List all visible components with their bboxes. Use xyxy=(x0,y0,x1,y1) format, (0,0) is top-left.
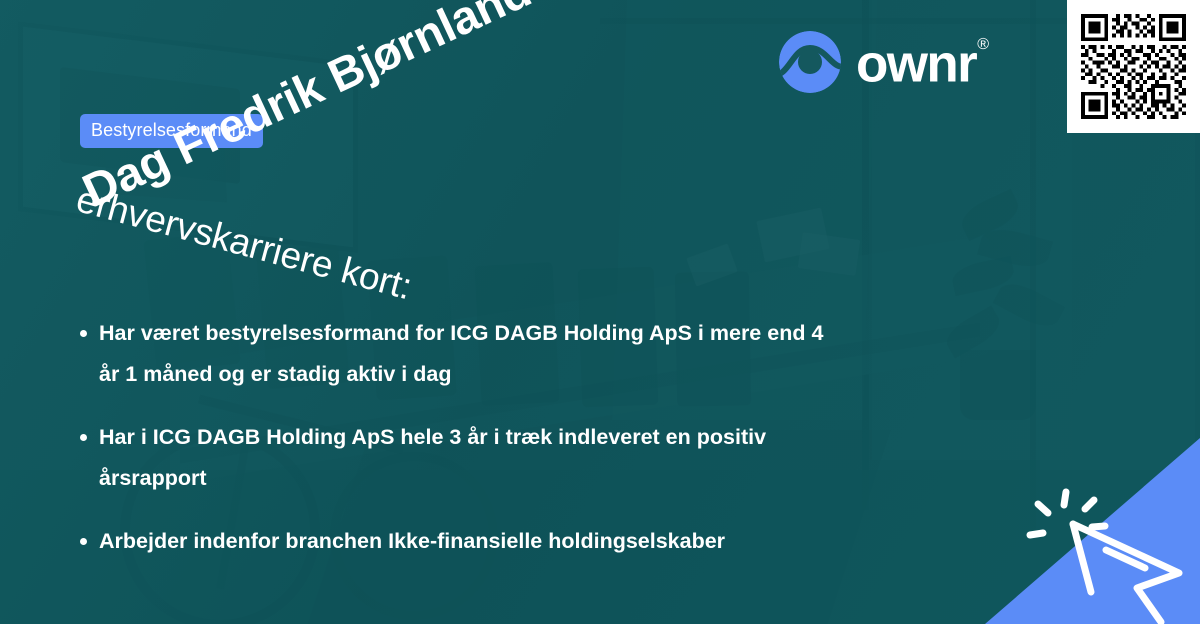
registered-mark: ® xyxy=(977,36,989,53)
click-cursor-icon xyxy=(1030,492,1179,622)
bullet-dot-icon xyxy=(80,330,87,337)
list-item-text: Har været bestyrelsesformand for ICG DAG… xyxy=(99,313,844,395)
list-item: Har været bestyrelsesformand for ICG DAG… xyxy=(80,313,980,395)
bullet-dot-icon xyxy=(80,538,87,545)
list-item: Har i ICG DAGB Holding ApS hele 3 år i t… xyxy=(80,417,980,499)
qr-code-panel[interactable] xyxy=(1067,0,1200,133)
headline: Dag Fredrik Bjørnland's erhvervskarriere… xyxy=(78,155,978,217)
qr-code-icon xyxy=(1077,10,1190,123)
ownr-wordmark-text: ownr xyxy=(856,34,976,93)
bullet-dot-icon xyxy=(80,434,87,441)
ownr-wordmark: ownr® xyxy=(856,32,988,91)
ownr-circle-logo-icon xyxy=(778,30,842,94)
list-item-text: Har i ICG DAGB Holding ApS hele 3 år i t… xyxy=(99,417,844,499)
ownr-logo[interactable]: ownr® xyxy=(778,30,988,94)
list-item-text: Arbejder indenfor branchen Ikke-finansie… xyxy=(99,521,844,562)
career-summary-list: Har været bestyrelsesformand for ICG DAG… xyxy=(80,313,980,584)
list-item: Arbejder indenfor branchen Ikke-finansie… xyxy=(80,521,980,562)
blue-corner-triangle xyxy=(985,438,1200,624)
promo-card: Bestyrelsesformand Dag Fredrik Bjørnland… xyxy=(0,0,1200,624)
